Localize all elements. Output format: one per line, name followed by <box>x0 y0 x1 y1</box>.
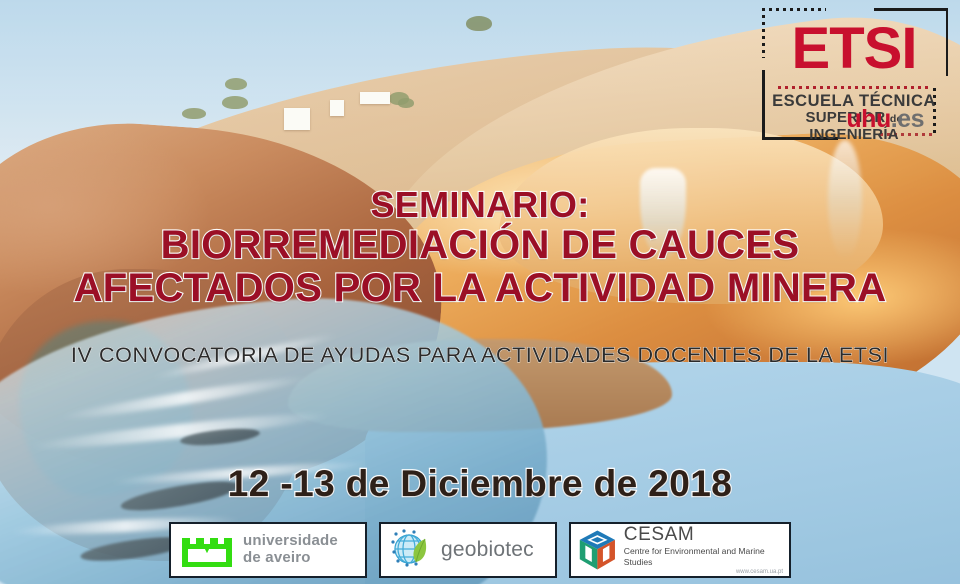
cesam-url: www.cesam.ua.pt <box>624 569 783 575</box>
logo-frame-dotted-left <box>762 8 765 58</box>
poster-canvas: ETSI ESCUELA TÉCNICA SUPERIOR de INGENIE… <box>0 0 960 584</box>
aveiro-name-line-1: universidade <box>243 533 338 550</box>
title-line-1: SEMINARIO: <box>0 186 960 224</box>
etsi-divider-dotted <box>778 86 930 89</box>
event-subtitle: IV CONVOCATORIA DE AYUDAS PARA ACTIVIDAD… <box>0 343 960 368</box>
etsi-acronym: ETSI <box>774 20 934 78</box>
logo-geobiotec[interactable]: geobiotec <box>379 522 557 578</box>
aveiro-wordmark: universidade de aveiro <box>243 533 338 567</box>
geobiotec-globe-leaf-icon <box>389 528 435 572</box>
uhu-tld: .es <box>891 105 924 133</box>
cesam-tagline: Centre for Environmental and Marine Stud… <box>624 546 783 567</box>
logo-frame-top-right <box>874 8 948 11</box>
geobiotec-wordmark: geobiotec <box>441 538 534 562</box>
uhu-web-address[interactable]: uhu.es <box>846 107 924 132</box>
logo-universidade-de-aveiro[interactable]: universidade de aveiro <box>169 522 367 578</box>
event-date: 12 -13 de Diciembre de 2018 <box>0 463 960 505</box>
aveiro-name-line-2: de aveiro <box>243 550 338 567</box>
sponsor-logo-bar: universidade de aveiro <box>0 516 960 584</box>
etsi-logo: ETSI ESCUELA TÉCNICA SUPERIOR de INGENIE… <box>756 6 948 146</box>
logo-frame-right <box>946 8 949 76</box>
uhu-brand: uhu <box>846 105 890 133</box>
title-line-2: BIORREMEDIACIÓN DE CAUCES <box>0 224 960 266</box>
title-line-3: AFECTADOS POR LA ACTIVIDAD MINERA <box>0 267 960 309</box>
cesam-wordmark: CESAM Centre for Environmental and Marin… <box>624 525 783 575</box>
title-block: SEMINARIO: BIORREMEDIACIÓN DE CAUCES AFE… <box>0 186 960 309</box>
cesam-name: CESAM <box>624 525 783 544</box>
cesam-cube-icon <box>577 527 618 573</box>
logo-cesam[interactable]: CESAM Centre for Environmental and Marin… <box>569 522 791 578</box>
logo-frame-dotted-top-left <box>762 8 826 11</box>
logo-frame-left <box>762 70 765 140</box>
aveiro-book-icon <box>179 530 235 570</box>
